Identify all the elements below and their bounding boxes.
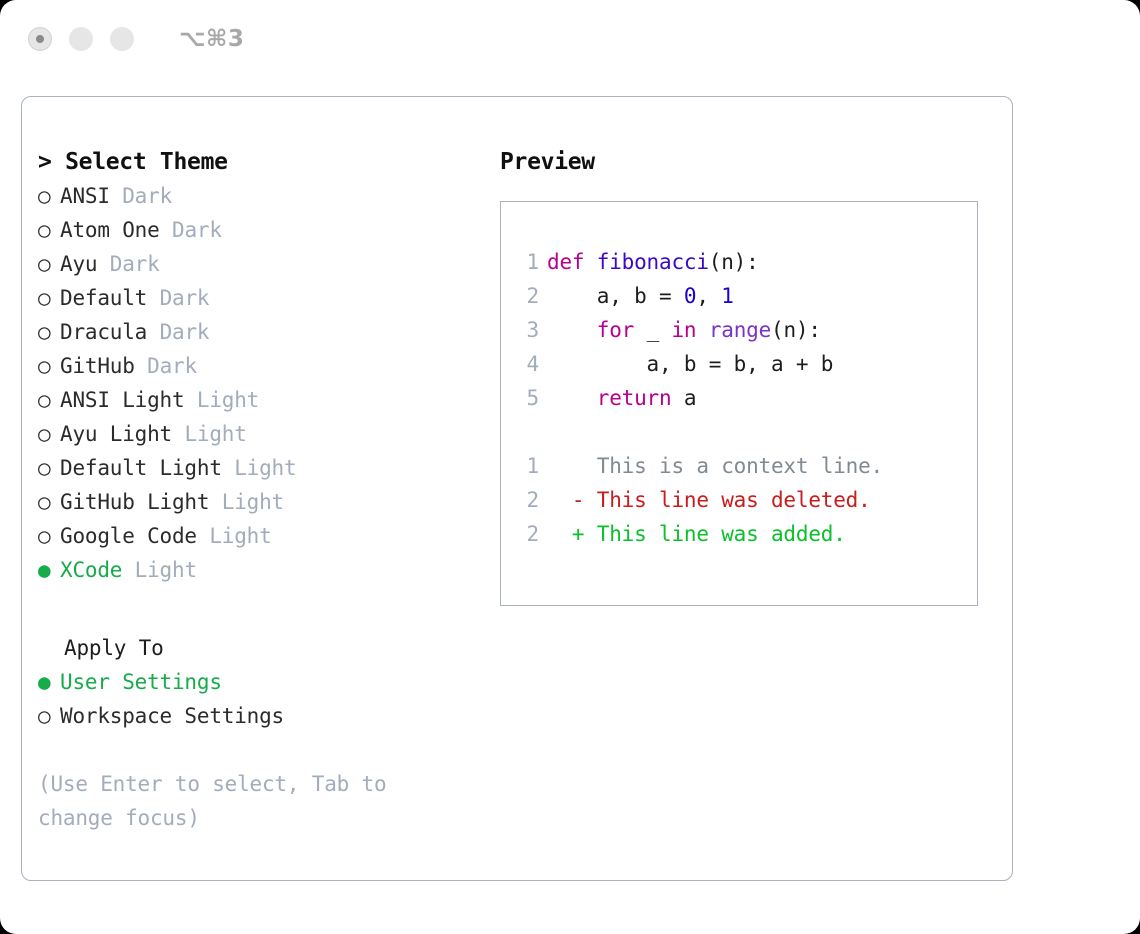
radio-unselected-icon: ○ [38, 349, 60, 383]
code-token: in [671, 318, 696, 342]
radio-unselected-icon: ○ [38, 485, 60, 519]
apply-to-section: Apply To ●User Settings○Workspace Settin… [38, 631, 478, 733]
code-token: fibonacci [597, 250, 709, 274]
theme-kind-label: Light [197, 388, 259, 412]
theme-kind-label: Light [135, 558, 197, 582]
theme-kind-label: Light [234, 456, 296, 480]
code-token: def [547, 250, 597, 274]
code-token: for [597, 318, 634, 342]
line-number: 3 [513, 313, 539, 347]
diff-preview: 1 This is a context line.2 - This line w… [513, 449, 977, 551]
theme-list-item[interactable]: ○Dracula Dark [38, 315, 478, 349]
theme-list-item[interactable]: ○GitHub Dark [38, 349, 478, 383]
theme-kind-label: Dark [172, 218, 222, 242]
theme-kind-label: Dark [160, 320, 210, 344]
diff-line: 2 - This line was deleted. [513, 483, 977, 517]
theme-name-label: ANSI [60, 184, 110, 208]
code-line: 5 return a [513, 381, 977, 415]
line-number: 5 [513, 381, 539, 415]
theme-name-label: GitHub Light [60, 490, 209, 514]
spacer [122, 558, 134, 582]
theme-list-item[interactable]: ○ANSI Light Light [38, 383, 478, 417]
theme-kind-label: Dark [160, 286, 210, 310]
radio-selected-icon: ● [38, 553, 60, 587]
preview-heading: Preview [500, 145, 990, 179]
theme-name-label: ANSI Light [60, 388, 184, 412]
radio-unselected-icon: ○ [38, 519, 60, 553]
apply-to-option-label: User Settings [60, 670, 222, 694]
radio-unselected-icon: ○ [38, 247, 60, 281]
spacer [197, 524, 209, 548]
apply-to-options[interactable]: ●User Settings○Workspace Settings [38, 665, 478, 733]
theme-name-label: Google Code [60, 524, 197, 548]
theme-list-item[interactable]: ○Google Code Light [38, 519, 478, 553]
line-number: 1 [513, 449, 539, 483]
theme-name-label: Default [60, 286, 147, 310]
theme-name-label: XCode [60, 558, 122, 582]
code-token: _ [634, 318, 671, 342]
code-token [547, 318, 597, 342]
diff-gutter-pad [547, 454, 572, 478]
diff-line: 2 + This line was added. [513, 517, 977, 551]
radio-unselected-icon: ○ [38, 383, 60, 417]
theme-list-item[interactable]: ○GitHub Light Light [38, 485, 478, 519]
diff-text: This line was deleted. [584, 488, 870, 512]
close-window-button[interactable] [28, 27, 52, 51]
theme-kind-label: Dark [110, 252, 160, 276]
theme-list-item[interactable]: ○Default Light Light [38, 451, 478, 485]
code-line: 2 a, b = 0, 1 [513, 279, 977, 313]
code-token: a, b = b, a + b [547, 352, 833, 376]
theme-list-item[interactable]: ○Ayu Dark [38, 247, 478, 281]
diff-gutter-pad [547, 522, 572, 546]
radio-unselected-icon: ○ [38, 315, 60, 349]
code-line: 1def fibonacci(n): [513, 245, 977, 279]
code-token [547, 386, 597, 410]
code-token: (n): [709, 250, 759, 274]
theme-kind-label: Light [222, 490, 284, 514]
titlebar: ⌥⌘3 [0, 0, 1140, 78]
code-token: 1 [721, 284, 733, 308]
diff-marker: + [572, 522, 584, 546]
theme-name-label: Atom One [60, 218, 160, 242]
close-icon [36, 35, 44, 43]
preview-box: 1def fibonacci(n):2 a, b = 0, 13 for _ i… [500, 201, 978, 606]
radio-unselected-icon: ○ [38, 451, 60, 485]
diff-marker: - [572, 488, 584, 512]
code-token: range [709, 318, 771, 342]
spacer [172, 422, 184, 446]
diff-gutter-pad [547, 488, 572, 512]
code-line: 4 a, b = b, a + b [513, 347, 977, 381]
spacer [222, 456, 234, 480]
traffic-light-group [28, 27, 134, 51]
radio-unselected-icon: ○ [38, 699, 60, 733]
theme-name-label: Ayu Light [60, 422, 172, 446]
preview-spacer [513, 415, 977, 449]
spacer [147, 286, 159, 310]
diff-text: This line was added. [584, 522, 845, 546]
keyboard-hint-text: (Use Enter to select, Tab to change focu… [38, 767, 448, 835]
line-number: 2 [513, 517, 539, 551]
theme-list-item[interactable]: ○Atom One Dark [38, 213, 478, 247]
code-preview: 1def fibonacci(n):2 a, b = 0, 13 for _ i… [513, 245, 977, 415]
theme-name-label: Default Light [60, 456, 222, 480]
apply-to-option[interactable]: ●User Settings [38, 665, 478, 699]
apply-to-option[interactable]: ○Workspace Settings [38, 699, 478, 733]
code-token [696, 318, 708, 342]
code-token: (n): [771, 318, 821, 342]
code-token: return [597, 386, 672, 410]
theme-list-item[interactable]: ○ANSI Dark [38, 179, 478, 213]
radio-unselected-icon: ○ [38, 213, 60, 247]
apply-to-heading: Apply To [38, 631, 478, 665]
code-line: 3 for _ in range(n): [513, 313, 977, 347]
diff-line: 1 This is a context line. [513, 449, 977, 483]
theme-list-item[interactable]: ●XCode Light [38, 553, 478, 587]
main-panel: > Select Theme ○ANSI Dark○Atom One Dark○… [21, 96, 1013, 881]
line-number: 2 [513, 279, 539, 313]
diff-text: This is a context line. [584, 454, 883, 478]
radio-unselected-icon: ○ [38, 281, 60, 315]
code-token: a, b = [547, 284, 684, 308]
spacer [97, 252, 109, 276]
apply-to-option-label: Workspace Settings [60, 704, 284, 728]
code-token: a [671, 386, 696, 410]
radio-selected-icon: ● [38, 665, 60, 699]
theme-list-item[interactable]: ○Default Dark [38, 281, 478, 315]
line-number: 4 [513, 347, 539, 381]
theme-selector-column: > Select Theme ○ANSI Dark○Atom One Dark○… [38, 145, 478, 835]
spacer [135, 354, 147, 378]
theme-kind-label: Dark [122, 184, 172, 208]
theme-kind-label: Dark [147, 354, 197, 378]
theme-list[interactable]: ○ANSI Dark○Atom One Dark○Ayu Dark○Defaul… [38, 179, 478, 587]
theme-kind-label: Light [184, 422, 246, 446]
diff-marker [572, 454, 584, 478]
spacer [110, 184, 122, 208]
line-number: 1 [513, 245, 539, 279]
spacer [160, 218, 172, 242]
theme-name-label: Dracula [60, 320, 147, 344]
select-theme-heading: > Select Theme [38, 145, 478, 179]
line-number: 2 [513, 483, 539, 517]
code-token: , [696, 284, 721, 308]
theme-list-item[interactable]: ○Ayu Light Light [38, 417, 478, 451]
spacer [209, 490, 221, 514]
theme-name-label: Ayu [60, 252, 97, 276]
radio-unselected-icon: ○ [38, 417, 60, 451]
theme-kind-label: Light [209, 524, 271, 548]
keyboard-shortcut-label: ⌥⌘3 [179, 26, 244, 52]
preview-column: Preview 1def fibonacci(n):2 a, b = 0, 13… [500, 145, 990, 606]
app-window: ⌥⌘3 > Select Theme ○ANSI Dark○Atom One D… [0, 0, 1140, 934]
radio-unselected-icon: ○ [38, 179, 60, 213]
spacer [184, 388, 196, 412]
minimize-window-button[interactable] [69, 27, 93, 51]
spacer [147, 320, 159, 344]
code-token: 0 [684, 284, 696, 308]
theme-name-label: GitHub [60, 354, 135, 378]
zoom-window-button[interactable] [110, 27, 134, 51]
